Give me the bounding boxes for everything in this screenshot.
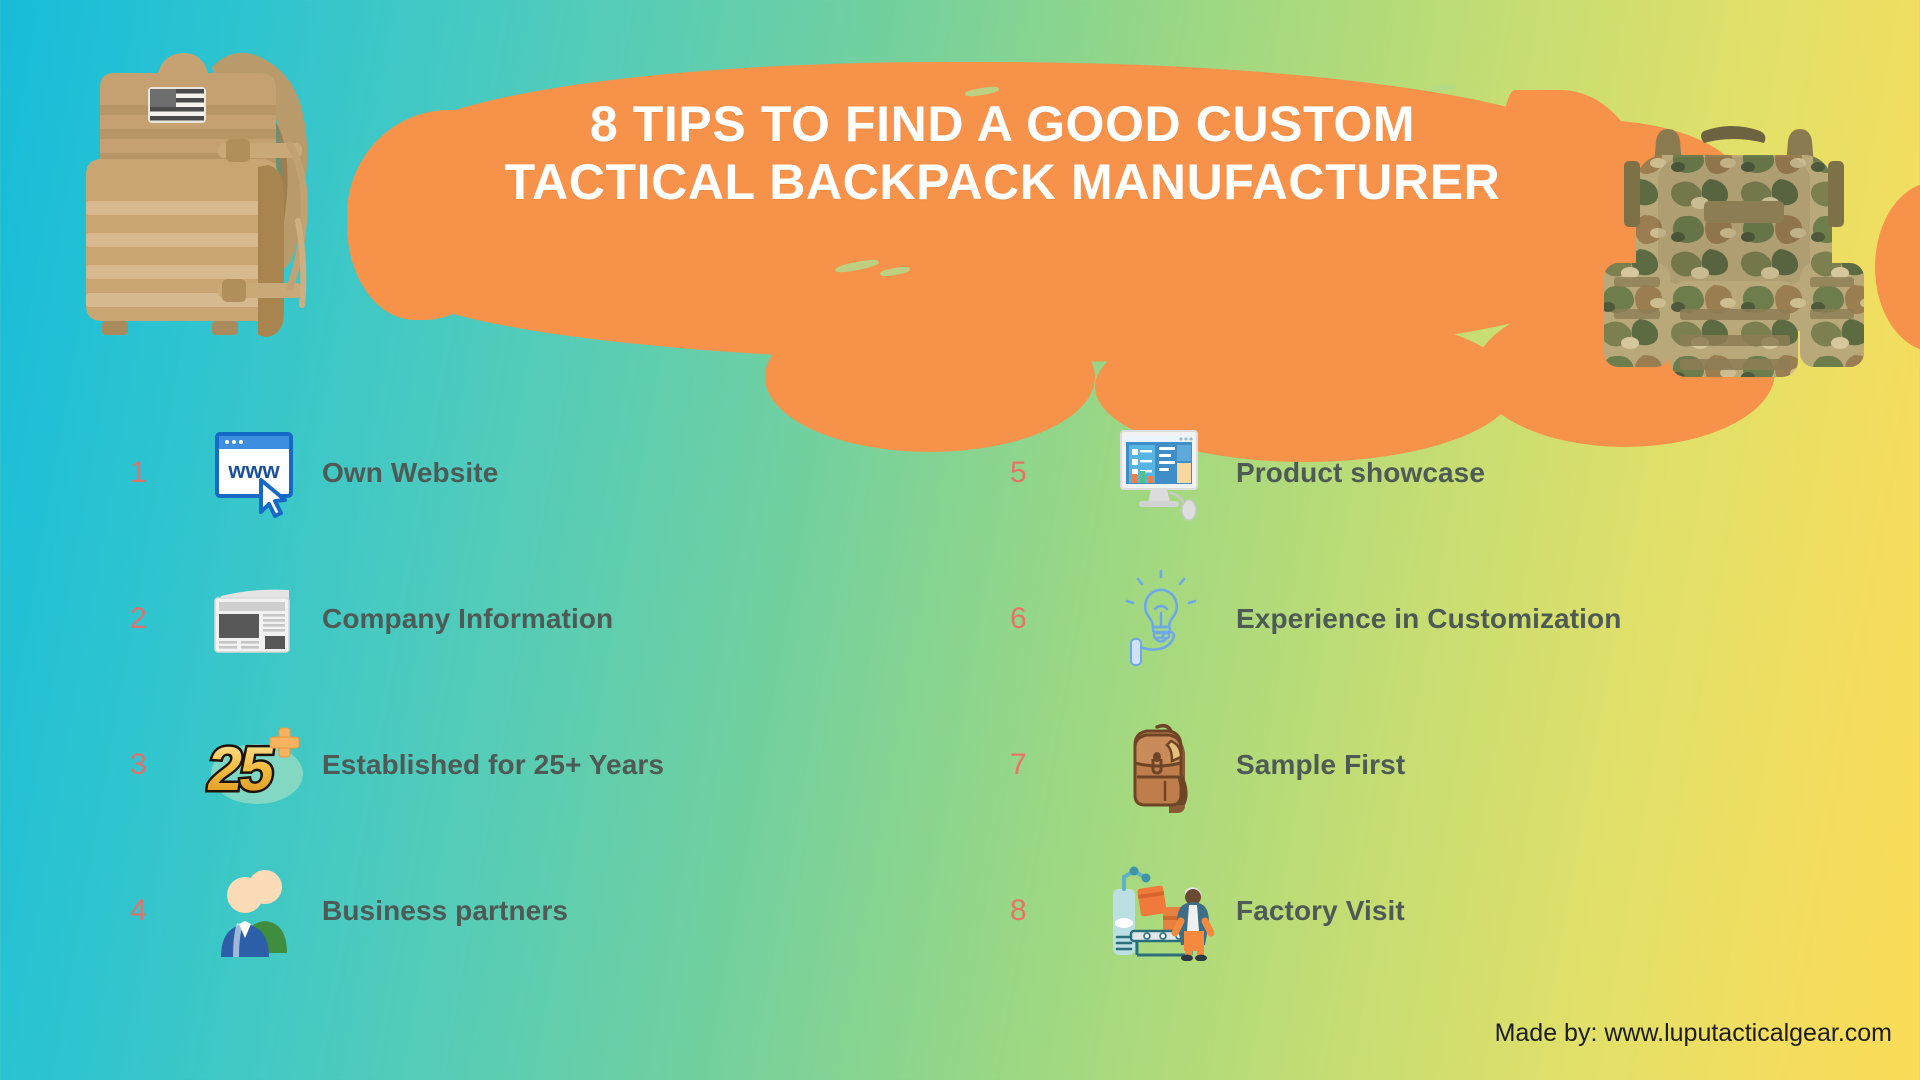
tip-row-4[interactable]: 4 Business partners — [130, 838, 990, 984]
tip-row-2[interactable]: 2 Company I — [130, 546, 990, 692]
svg-text:25: 25 — [205, 735, 277, 804]
tip-row-6[interactable]: 6 — [1010, 546, 1870, 692]
lightbulb-in-hand-icon — [1086, 569, 1236, 669]
title-line-1: 8 TIPS TO FIND A GOOD CUSTOM — [590, 96, 1415, 152]
tip-row-5[interactable]: 5 — [1010, 400, 1870, 546]
tips-list: 1 www Own Website 2 — [0, 400, 1920, 990]
tip-row-8[interactable]: 8 — [1010, 838, 1870, 984]
tip-label: Sample First — [1236, 749, 1405, 781]
tip-number: 8 — [1010, 894, 1086, 928]
right-backpack-image — [1600, 105, 1870, 395]
tip-label: Factory Visit — [1236, 895, 1405, 927]
footer-credit: Made by: www.luputacticalgear.com — [1495, 1019, 1892, 1048]
tip-row-7[interactable]: 7 Sample First — [1010, 692, 1870, 838]
tip-number: 3 — [130, 748, 192, 782]
tip-number: 5 — [1010, 456, 1086, 490]
tip-number: 7 — [1010, 748, 1086, 782]
tip-number: 4 — [130, 894, 192, 928]
newspaper-icon — [192, 580, 322, 658]
title-line-2: TACTICAL BACKPACK MANUFACTURER — [395, 153, 1610, 211]
tip-number: 2 — [130, 602, 192, 636]
tip-number: 6 — [1010, 602, 1086, 636]
twenty-five-plus-badge-icon: 25 — [192, 722, 322, 808]
browser-www-icon: www — [192, 428, 322, 518]
tip-number: 1 — [130, 456, 192, 490]
svg-text:www: www — [227, 458, 280, 483]
tip-label: Own Website — [322, 457, 498, 489]
tip-label: Company Information — [322, 603, 613, 635]
header: 8 TIPS TO FIND A GOOD CUSTOM TACTICAL BA… — [0, 0, 1920, 400]
two-people-icon — [192, 865, 322, 957]
tip-row-3[interactable]: 3 25 — [130, 692, 990, 838]
backpack-icon — [1086, 715, 1236, 815]
factory-worker-icon — [1086, 861, 1236, 961]
tip-label: Established for 25+ Years — [322, 749, 664, 781]
tip-label: Experience in Customization — [1236, 603, 1621, 635]
left-backpack-image — [62, 25, 347, 345]
tip-label: Business partners — [322, 895, 568, 927]
tip-row-1[interactable]: 1 www Own Website — [130, 400, 990, 546]
desktop-monitor-icon — [1086, 425, 1236, 521]
page-title: 8 TIPS TO FIND A GOOD CUSTOM TACTICAL BA… — [395, 95, 1610, 211]
banner-speck — [1430, 83, 1457, 92]
tips-column-right: 5 — [1010, 400, 1870, 984]
tip-label: Product showcase — [1236, 457, 1485, 489]
tips-column-left: 1 www Own Website 2 — [130, 400, 990, 984]
